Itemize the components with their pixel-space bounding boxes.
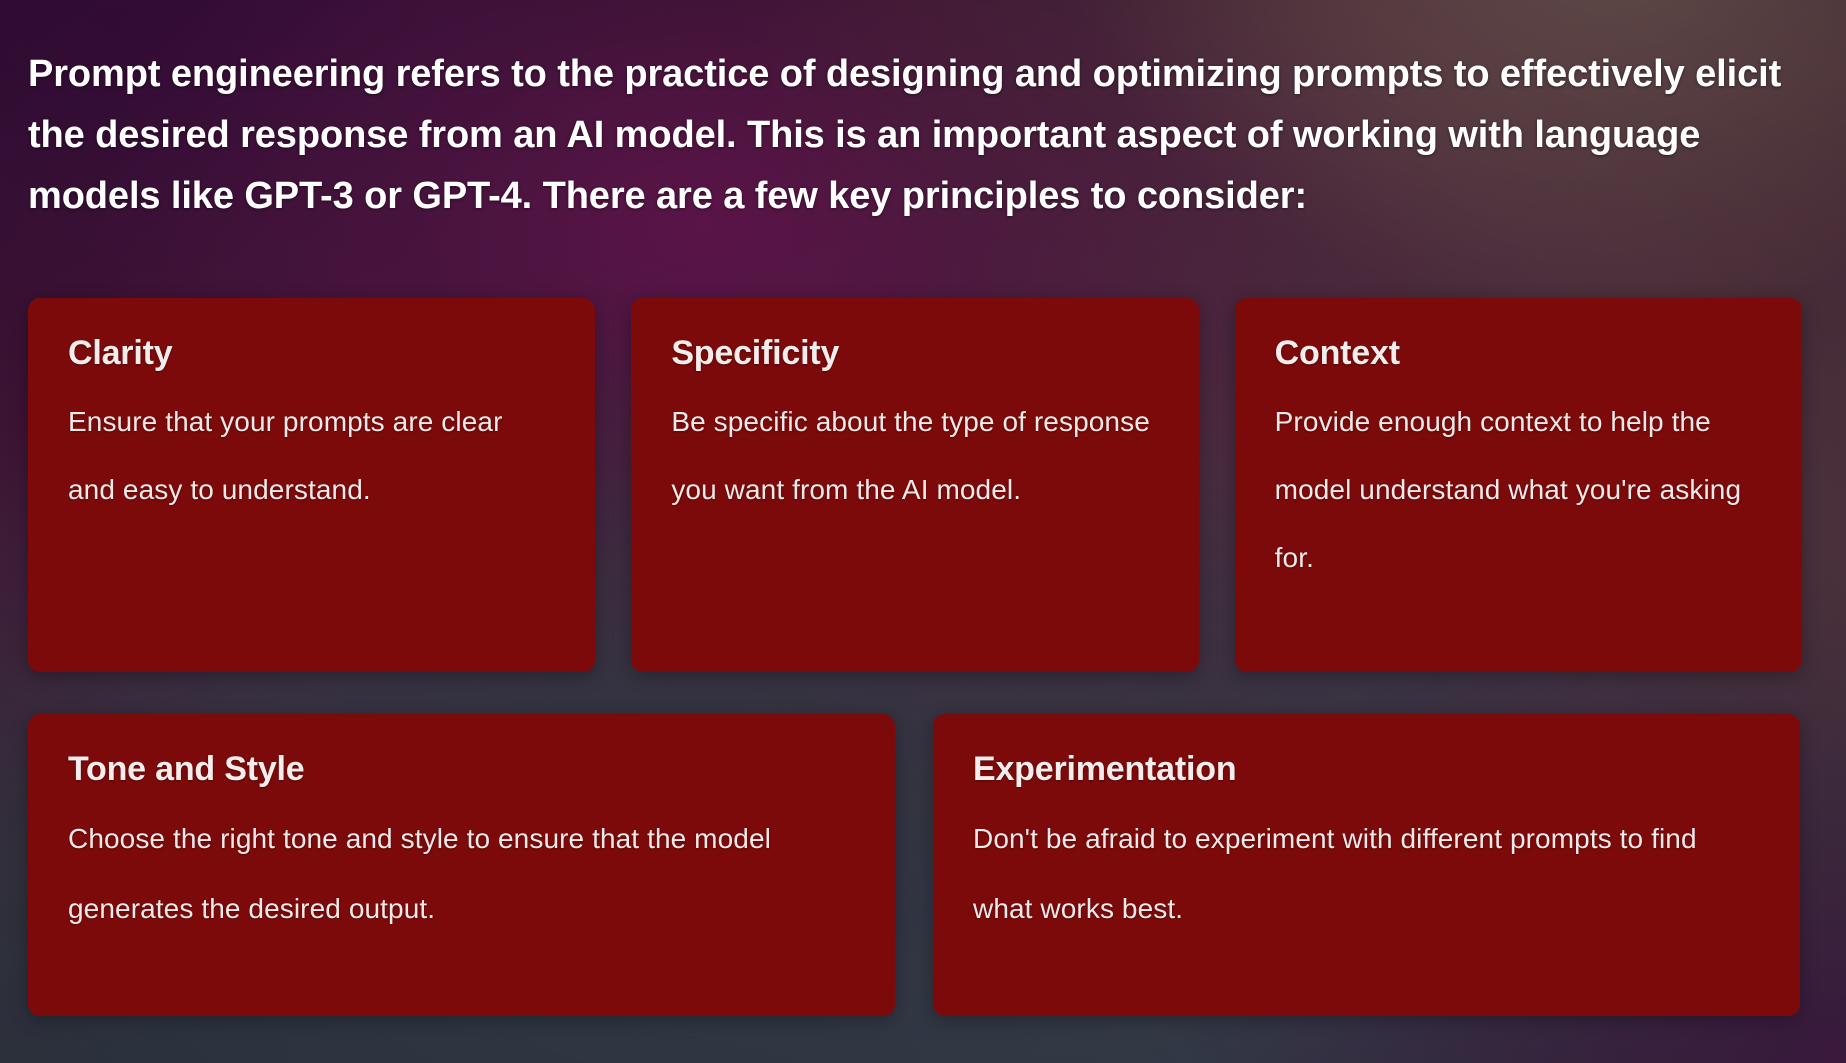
principle-card-clarity[interactable]: Clarity Ensure that your prompts are cle… xyxy=(28,298,595,672)
principle-card-tone-and-style[interactable]: Tone and Style Choose the right tone and… xyxy=(28,714,895,1016)
principle-card-experimentation[interactable]: Experimentation Don't be afraid to exper… xyxy=(933,714,1800,1016)
principles-row-bottom: Tone and Style Choose the right tone and… xyxy=(28,714,1800,1016)
principles-row-top: Clarity Ensure that your prompts are cle… xyxy=(28,298,1802,672)
principle-card-title: Experimentation xyxy=(973,748,1760,790)
principle-card-context[interactable]: Context Provide enough context to help t… xyxy=(1235,298,1802,672)
principle-card-title: Specificity xyxy=(671,332,1158,374)
principle-card-body: Be specific about the type of response y… xyxy=(671,388,1158,524)
intro-paragraph: Prompt engineering refers to the practic… xyxy=(28,44,1818,227)
prompt-engineering-panel: Prompt engineering refers to the practic… xyxy=(0,0,1846,1063)
principle-card-specificity[interactable]: Specificity Be specific about the type o… xyxy=(631,298,1198,672)
principle-card-body: Provide enough context to help the model… xyxy=(1275,388,1762,592)
principle-card-body: Choose the right tone and style to ensur… xyxy=(68,804,855,944)
principle-card-body: Ensure that your prompts are clear and e… xyxy=(68,388,555,524)
principle-card-body: Don't be afraid to experiment with diffe… xyxy=(973,804,1760,944)
principle-card-title: Tone and Style xyxy=(68,748,855,790)
principle-card-title: Context xyxy=(1275,332,1762,374)
principle-card-title: Clarity xyxy=(68,332,555,374)
